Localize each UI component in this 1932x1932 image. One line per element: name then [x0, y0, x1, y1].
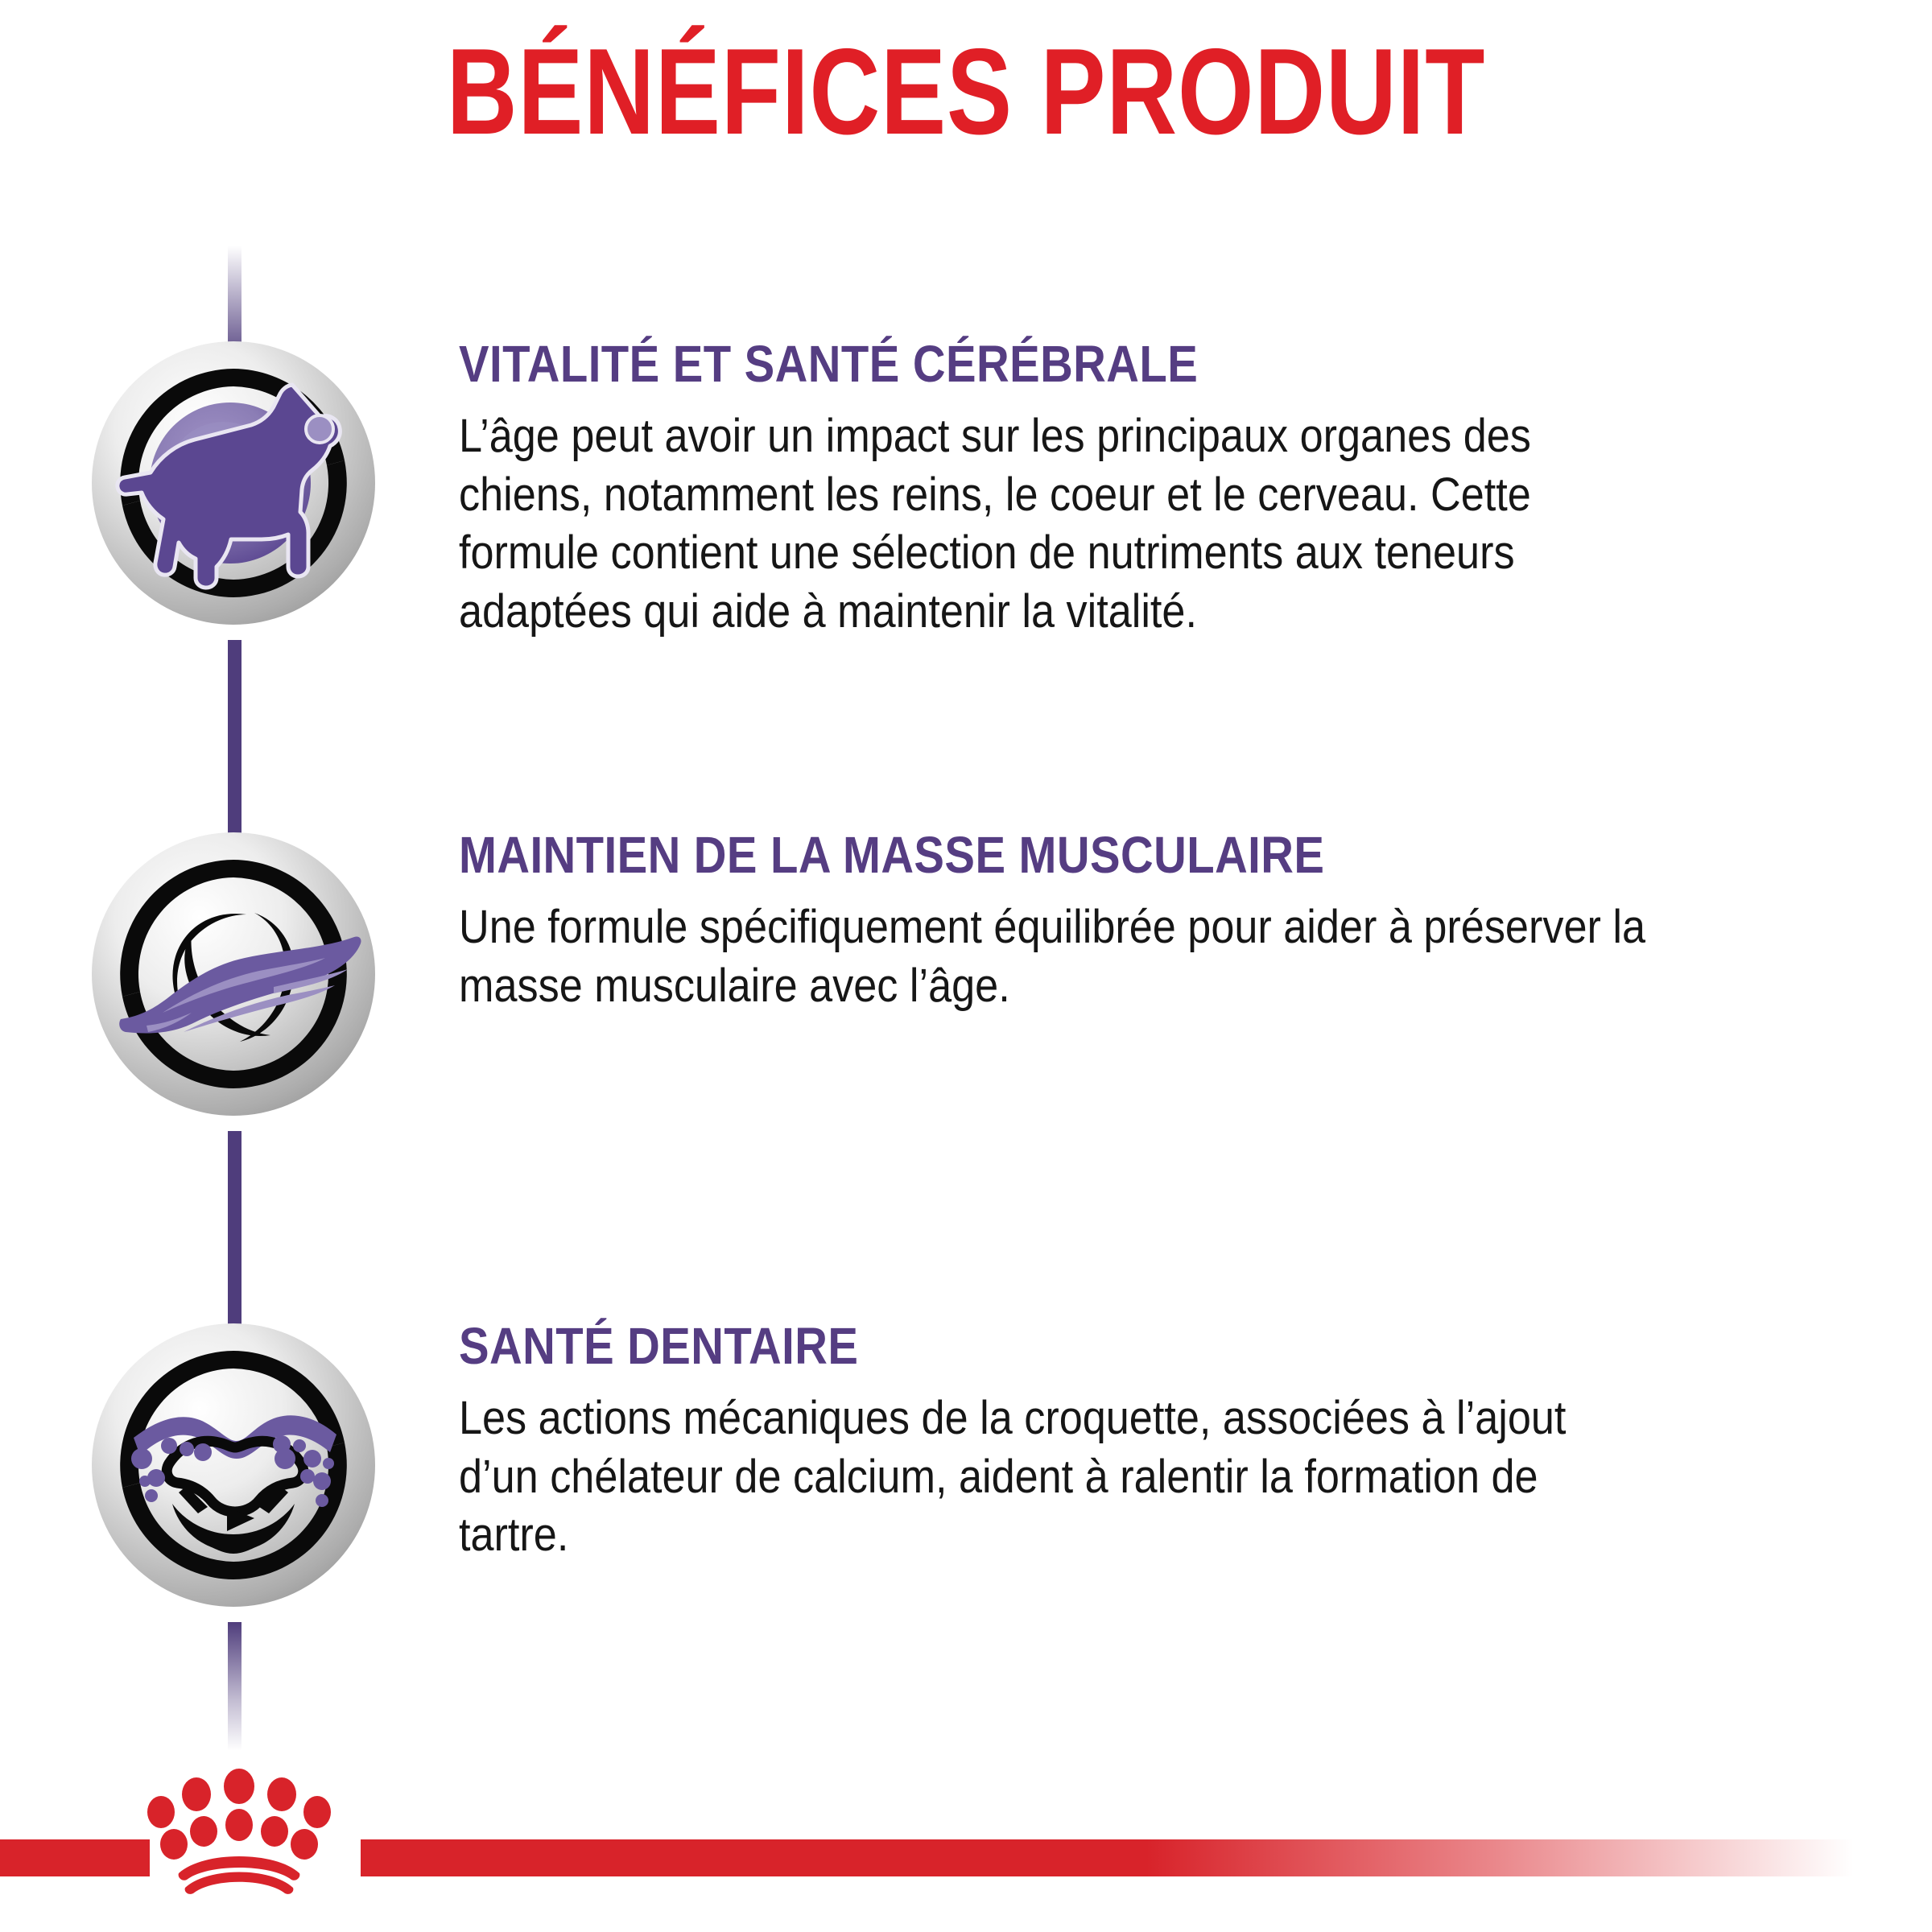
benefit-heading: SANTÉ DENTAIRE [459, 1320, 1706, 1372]
benefit-text-block: VITALITÉ ET SANTÉ CÉRÉBRALE L’âge peut a… [459, 338, 1876, 641]
timeline-rail-segment-1 [228, 640, 242, 857]
benefit-body: L’âge peut avoir un impact sur les princ… [459, 407, 1654, 641]
muscle-fiber-icon [89, 829, 378, 1119]
dog-silhouette-icon [89, 338, 378, 628]
benefit-body: Les actions mécaniques de la croquette, … [459, 1389, 1654, 1565]
footer-bar-right [361, 1839, 1932, 1876]
benefit-body: Une formule spécifiquement équilibrée po… [459, 898, 1654, 1015]
timeline-rail-segment-2 [228, 1131, 242, 1348]
benefit-heading: MAINTIEN DE LA MASSE MUSCULAIRE [459, 829, 1706, 881]
footer-bar-left [0, 1839, 150, 1876]
royal-canin-crown-logo [143, 1767, 335, 1896]
benefit-item: MAINTIEN DE LA MASSE MUSCULAIRE Une form… [0, 829, 1932, 1151]
dental-jaw-icon [89, 1320, 378, 1610]
benefit-item: VITALITÉ ET SANTÉ CÉRÉBRALE L’âge peut a… [0, 338, 1932, 660]
benefit-heading: VITALITÉ ET SANTÉ CÉRÉBRALE [459, 338, 1706, 390]
benefit-item: SANTÉ DENTAIRE Les actions mécaniques de… [0, 1320, 1932, 1642]
benefit-text-block: MAINTIEN DE LA MASSE MUSCULAIRE Une form… [459, 829, 1876, 1015]
benefit-text-block: SANTÉ DENTAIRE Les actions mécaniques de… [459, 1320, 1876, 1565]
page-title: BÉNÉFICES PRODUIT [193, 31, 1739, 153]
